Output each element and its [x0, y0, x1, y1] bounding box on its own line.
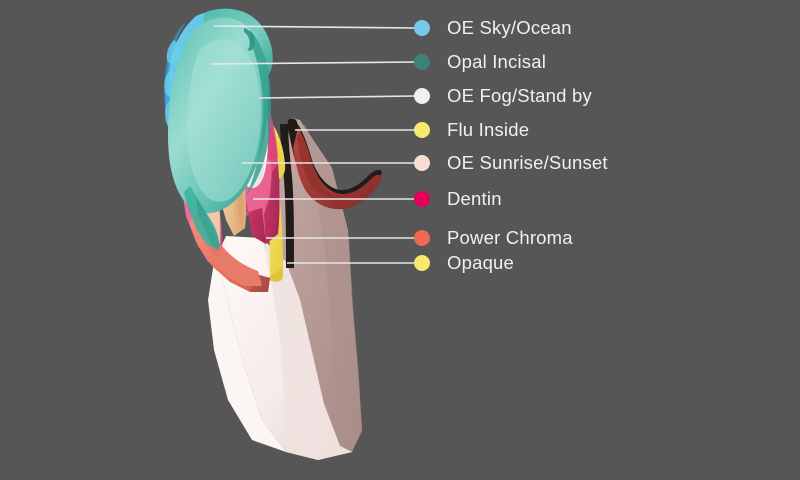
legend-label-oe-sunrise-sunset: OE Sunrise/Sunset: [447, 154, 608, 173]
figure-canvas: OE Sky/Ocean Opal Incisal OE Fog/Stand b…: [0, 0, 800, 480]
legend-label-power-chroma: Power Chroma: [447, 229, 573, 248]
legend-label-opaque: Opaque: [447, 254, 514, 273]
legend-dot-icon[interactable]: [414, 191, 430, 207]
legend-label-flu-inside: Flu Inside: [447, 121, 529, 140]
legend-label-oe-sky-ocean: OE Sky/Ocean: [447, 19, 572, 38]
legend-dots: [414, 20, 430, 271]
legend-label-opal-incisal: Opal Incisal: [447, 53, 546, 72]
legend-dot-icon[interactable]: [414, 122, 430, 138]
legend-dot-icon[interactable]: [414, 255, 430, 271]
legend-label-dentin: Dentin: [447, 190, 502, 209]
legend-dot-icon[interactable]: [414, 54, 430, 70]
legend-dot-icon[interactable]: [414, 155, 430, 171]
legend-label-oe-fog-stand-by: OE Fog/Stand by: [447, 87, 592, 106]
tooth-cross-section-illustration: [0, 0, 800, 480]
leader-line-2: [259, 96, 416, 98]
legend-dot-icon[interactable]: [414, 88, 430, 104]
legend-dot-icon[interactable]: [414, 230, 430, 246]
legend-dot-icon[interactable]: [414, 20, 430, 36]
